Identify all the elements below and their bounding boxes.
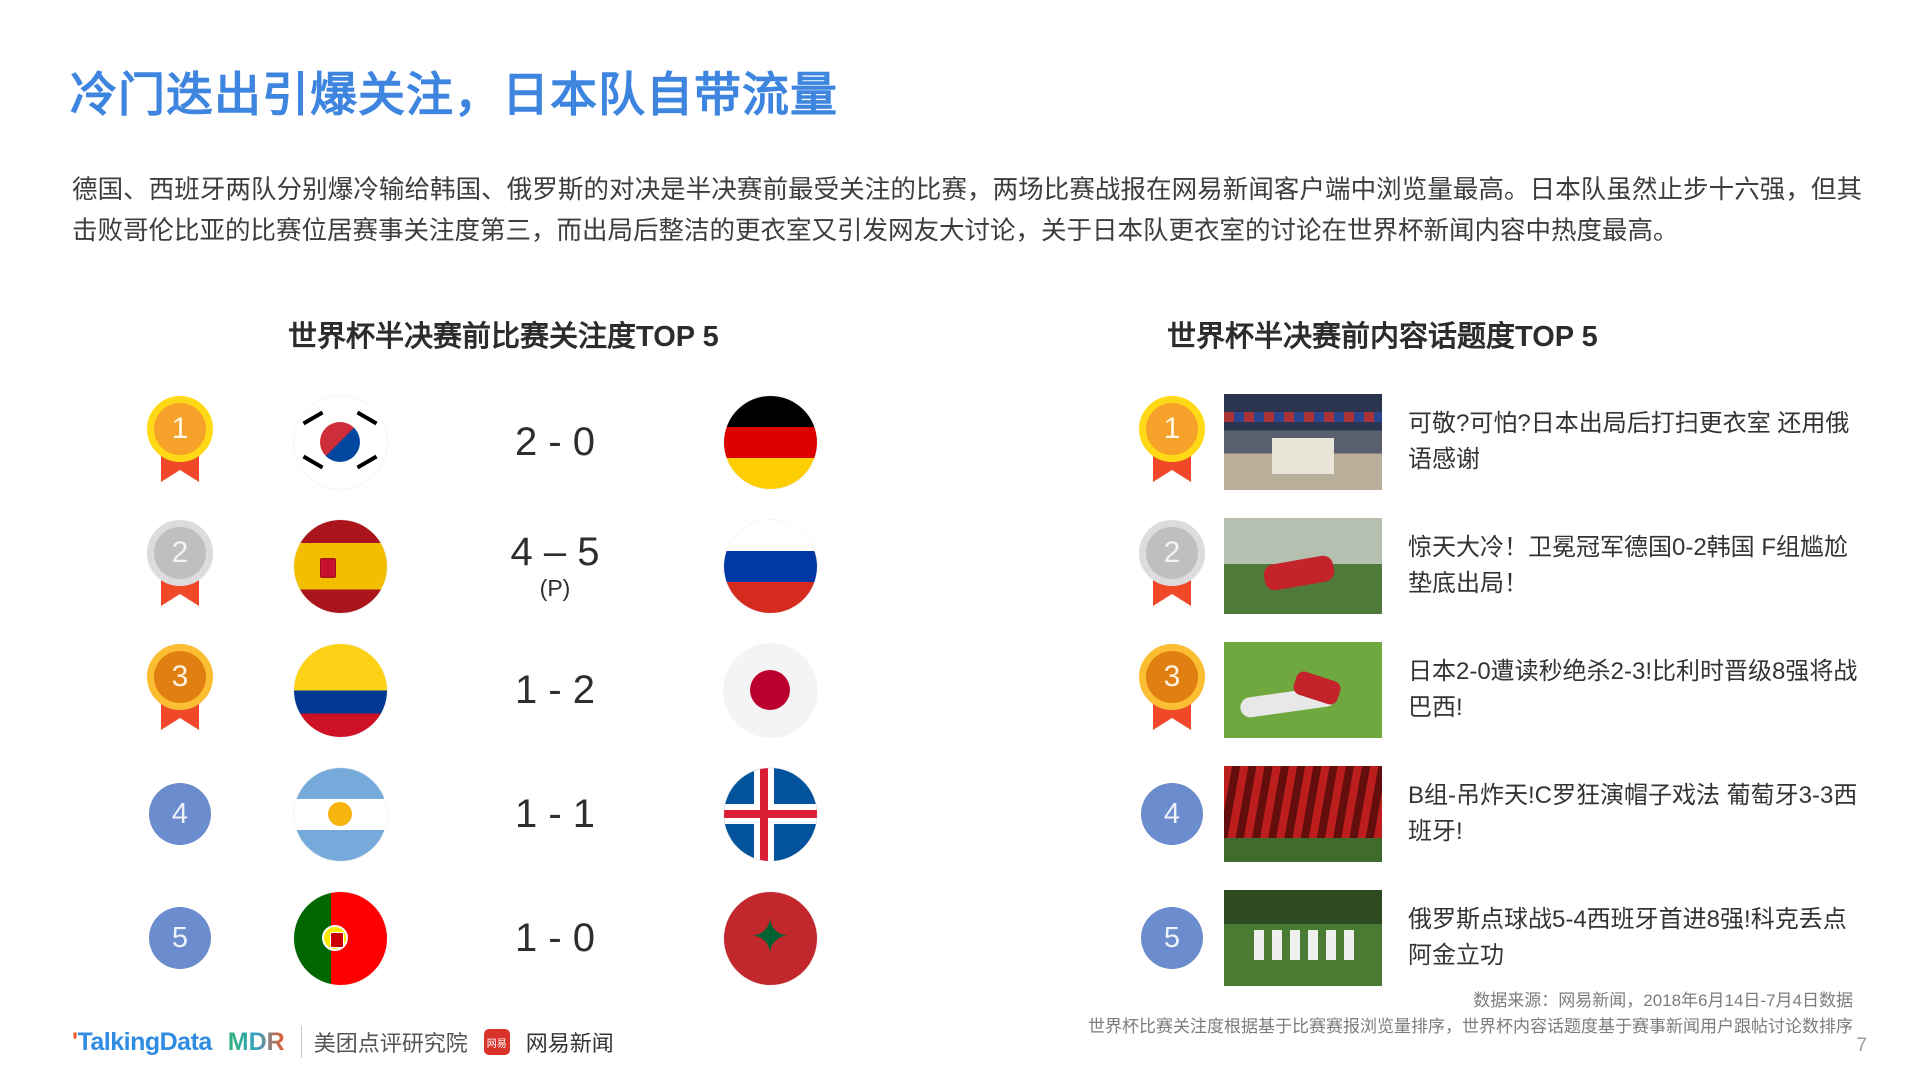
score-cell: 1 - 0 xyxy=(440,916,670,960)
news-headline[interactable]: 惊天大冷！卫冕冠军德国0-2韩国 F组尴尬垫底出局！ xyxy=(1408,530,1868,602)
list-item[interactable]: 1 可敬?可怕?日本出局后打扫更衣室 还用俄语感谢 xyxy=(1120,380,1880,504)
rank-number: 2 xyxy=(1139,520,1205,586)
page-title: 冷门迭出引爆关注，日本队自带流量 xyxy=(70,56,838,125)
table-row: 5 1 - 0 ✦ xyxy=(120,876,900,1000)
score-value: 2 - 0 xyxy=(515,420,595,464)
table-row: 2 4 – 5 (P) xyxy=(120,504,900,628)
table-row: 3 1 - 2 xyxy=(120,628,900,752)
away-flag-cell xyxy=(670,644,870,737)
flag-germany-icon xyxy=(724,396,817,489)
news-thumbnail-image xyxy=(1224,642,1382,738)
rank-number: 1 xyxy=(147,396,213,462)
home-flag-cell xyxy=(240,892,440,985)
source-line-2: 世界杯比赛关注度根据基于比赛赛报浏览量排序，世界杯内容话题度基于赛事新闻用户跟帖… xyxy=(1088,1014,1853,1040)
score-cell: 1 - 2 xyxy=(440,668,670,712)
list-item[interactable]: 2 惊天大冷！卫冕冠军德国0-2韩国 F组尴尬垫底出局！ xyxy=(1120,504,1880,628)
flag-south-korea-icon xyxy=(294,396,387,489)
home-flag-cell xyxy=(240,396,440,489)
rank-cell: 5 xyxy=(1120,907,1224,969)
score-note: (P) xyxy=(440,574,670,602)
meituan-research-logo: 美团点评研究院 xyxy=(301,1026,468,1058)
score-cell: 2 - 0 xyxy=(440,420,670,464)
rank-number: 3 xyxy=(1139,644,1205,710)
right-panel-heading: 世界杯半决赛前内容话题度TOP 5 xyxy=(1167,313,1598,355)
flag-iceland-icon xyxy=(724,768,817,861)
home-flag-cell xyxy=(240,768,440,861)
rank-number: 5 xyxy=(149,907,211,969)
netease-mark-icon: 网易 xyxy=(484,1029,510,1055)
rank-number: 4 xyxy=(1141,783,1203,845)
rank-number: 1 xyxy=(1139,396,1205,462)
news-thumbnail-image xyxy=(1224,394,1382,490)
flag-portugal-icon xyxy=(294,892,387,985)
rank-cell: 2 xyxy=(1120,520,1224,612)
gold-medal-icon: 1 xyxy=(1139,396,1205,488)
rank-cell: 1 xyxy=(1120,396,1224,488)
score-value: 1 - 0 xyxy=(515,916,595,960)
score-value: 4 – 5 xyxy=(511,530,600,574)
silver-medal-icon: 2 xyxy=(147,520,213,612)
page-number: 7 xyxy=(1856,1035,1867,1057)
away-flag-cell: ✦ xyxy=(670,892,870,985)
bronze-medal-icon: 3 xyxy=(147,644,213,736)
away-flag-cell xyxy=(670,520,870,613)
silver-medal-icon: 2 xyxy=(1139,520,1205,612)
footer-logo-bar: 'TalkingData MDR 美团点评研究院 网易 网易新闻 xyxy=(72,1026,614,1058)
news-headline[interactable]: 俄罗斯点球战5-4西班牙首进8强!科克丢点阿金立功 xyxy=(1408,902,1868,974)
score-cell: 4 – 5 (P) xyxy=(440,530,670,602)
news-headline[interactable]: 可敬?可怕?日本出局后打扫更衣室 还用俄语感谢 xyxy=(1408,406,1868,478)
left-panel-heading: 世界杯半决赛前比赛关注度TOP 5 xyxy=(288,313,719,355)
rank-cell: 3 xyxy=(120,644,240,736)
home-flag-cell xyxy=(240,520,440,613)
rank-number: 5 xyxy=(1141,907,1203,969)
news-thumbnail-image xyxy=(1224,518,1382,614)
slide-page: 冷门迭出引爆关注，日本队自带流量 德国、西班牙两队分别爆冷输给韩国、俄罗斯的对决… xyxy=(0,0,1921,1080)
list-item[interactable]: 3 日本2-0遭读秒绝杀2-3!比利时晋级8强将战巴西! xyxy=(1120,628,1880,752)
score-value: 1 - 1 xyxy=(515,792,595,836)
list-item[interactable]: 5 俄罗斯点球战5-4西班牙首进8强!科克丢点阿金立功 xyxy=(1120,876,1880,1000)
news-thumbnail-image xyxy=(1224,766,1382,862)
rank-cell: 4 xyxy=(1120,783,1224,845)
list-item[interactable]: 4 B组-吊炸天!C罗狂演帽子戏法 葡萄牙3-3西班牙! xyxy=(1120,752,1880,876)
flag-colombia-icon xyxy=(294,644,387,737)
flag-russia-icon xyxy=(724,520,817,613)
mdr-logo: MDR xyxy=(228,1028,285,1057)
rank-cell: 2 xyxy=(120,520,240,612)
rank-cell: 4 xyxy=(120,783,240,845)
home-flag-cell xyxy=(240,644,440,737)
rank-number: 4 xyxy=(149,783,211,845)
rank-number: 2 xyxy=(147,520,213,586)
gold-medal-icon: 1 xyxy=(147,396,213,488)
netease-news-logo: 网易新闻 xyxy=(526,1026,614,1058)
source-line-1: 数据来源：网易新闻，2018年6月14日-7月4日数据 xyxy=(1088,988,1853,1014)
score-value: 1 - 2 xyxy=(515,668,595,712)
away-flag-cell xyxy=(670,768,870,861)
talkingdata-logo: 'TalkingData xyxy=(72,1028,212,1057)
table-row: 1 2 - 0 xyxy=(120,380,900,504)
table-row: 4 1 - 1 xyxy=(120,752,900,876)
source-note: 数据来源：网易新闻，2018年6月14日-7月4日数据 世界杯比赛关注度根据基于… xyxy=(1088,988,1853,1040)
rank-number: 3 xyxy=(147,644,213,710)
away-flag-cell xyxy=(670,396,870,489)
flag-spain-icon xyxy=(294,520,387,613)
flag-argentina-icon xyxy=(294,768,387,861)
match-ranking-list: 1 2 - 0 xyxy=(120,380,900,1000)
bronze-medal-icon: 3 xyxy=(1139,644,1205,736)
intro-paragraph: 德国、西班牙两队分别爆冷输给韩国、俄罗斯的对决是半决赛前最受关注的比赛，两场比赛… xyxy=(72,170,1862,252)
rank-cell: 5 xyxy=(120,907,240,969)
news-thumbnail-image xyxy=(1224,890,1382,986)
rank-cell: 1 xyxy=(120,396,240,488)
flag-morocco-icon: ✦ xyxy=(724,892,817,985)
news-headline[interactable]: B组-吊炸天!C罗狂演帽子戏法 葡萄牙3-3西班牙! xyxy=(1408,778,1868,850)
news-headline[interactable]: 日本2-0遭读秒绝杀2-3!比利时晋级8强将战巴西! xyxy=(1408,654,1868,726)
score-cell: 1 - 1 xyxy=(440,792,670,836)
flag-japan-icon xyxy=(724,644,817,737)
rank-cell: 3 xyxy=(1120,644,1224,736)
news-ranking-list: 1 可敬?可怕?日本出局后打扫更衣室 还用俄语感谢 2 惊天大冷！卫冕冠军德国0… xyxy=(1120,380,1880,1000)
